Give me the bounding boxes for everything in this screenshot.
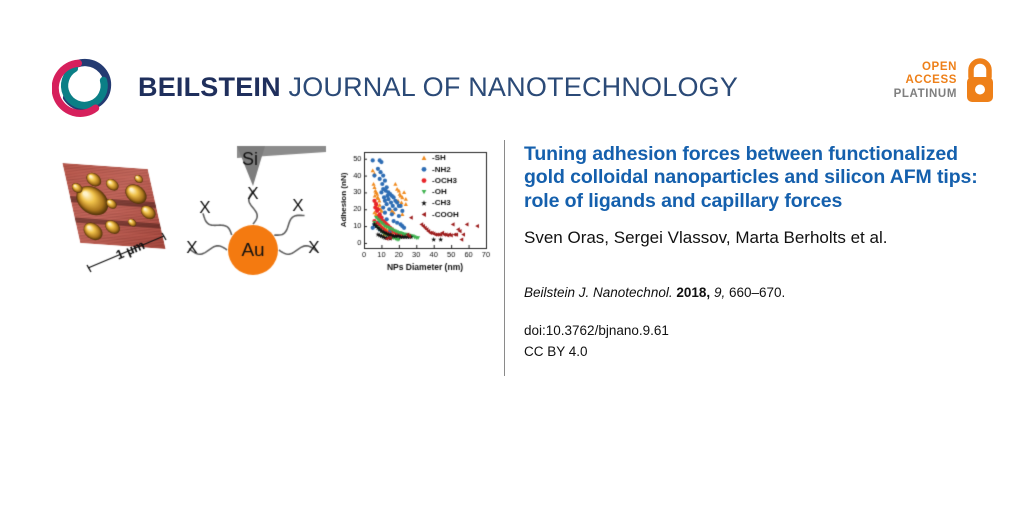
- tip-nanoparticle-schematic: [180, 138, 335, 286]
- open-access-text: OPEN ACCESS PLATINUM: [894, 61, 957, 102]
- journal-masthead: BEILSTEIN JOURNAL OF NANOTECHNOLOGY OPEN…: [0, 0, 1024, 130]
- article-license[interactable]: CC BY 4.0: [524, 342, 994, 362]
- open-lock-icon: [963, 58, 997, 104]
- wordmark-beilstein: BEILSTEIN: [138, 72, 281, 102]
- schematic-canvas: [180, 138, 335, 286]
- wordmark-journal-of-nanotechnology: JOURNAL OF NANOTECHNOLOGY: [281, 72, 738, 102]
- citation-year: 2018,: [676, 285, 710, 300]
- beilstein-spiral-logo-icon: [52, 54, 118, 120]
- citation-journal: Beilstein J. Nanotechnol.: [524, 285, 673, 300]
- journal-wordmark: BEILSTEIN JOURNAL OF NANOTECHNOLOGY: [138, 74, 738, 101]
- article-meta: Tuning adhesion forces between functiona…: [524, 143, 994, 361]
- article-authors: Sven Oras, Sergei Vlassov, Marta Berholt…: [524, 227, 994, 248]
- adhesion-scatter-chart: [336, 144, 494, 284]
- citation-pages: 660–670.: [729, 285, 785, 300]
- scatter-canvas: [336, 144, 494, 284]
- oa-line-platinum: PLATINUM: [894, 88, 957, 102]
- graphical-abstract-figure: [0, 130, 504, 290]
- afm-canvas: [58, 144, 183, 284]
- vertical-divider: [504, 140, 505, 376]
- article-doi[interactable]: doi:10.3762/bjnano.9.61: [524, 321, 994, 341]
- graphical-abstract-page: BEILSTEIN JOURNAL OF NANOTECHNOLOGY OPEN…: [0, 0, 1024, 512]
- oa-line-access: ACCESS: [894, 74, 957, 88]
- journal-logo-block[interactable]: BEILSTEIN JOURNAL OF NANOTECHNOLOGY: [52, 54, 738, 120]
- citation-volume: 9,: [714, 285, 725, 300]
- oa-line-open: OPEN: [894, 61, 957, 75]
- article-title[interactable]: Tuning adhesion forces between functiona…: [524, 143, 994, 213]
- afm-topography-image: [58, 144, 183, 284]
- article-citation: Beilstein J. Nanotechnol. 2018, 9, 660–6…: [524, 284, 994, 302]
- open-access-badge[interactable]: OPEN ACCESS PLATINUM: [894, 58, 997, 104]
